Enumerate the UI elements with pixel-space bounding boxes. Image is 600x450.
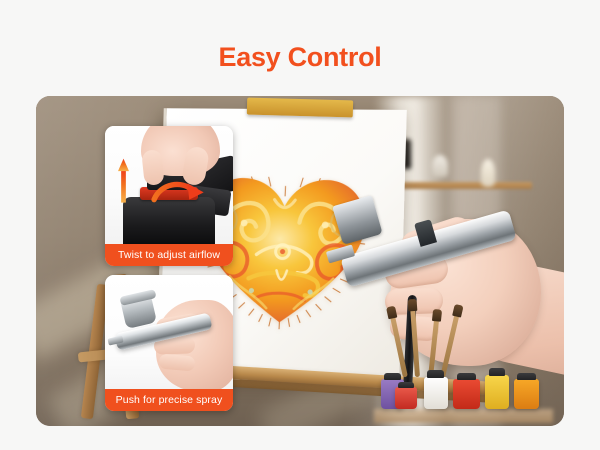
inset-label-twist-airflow: Twist to adjust airflow [105,244,233,266]
paint-bottle [453,379,480,409]
rotate-arrow-icon [149,178,208,209]
paint-bottle [514,379,539,409]
inset-photo-precise-spray [105,275,233,389]
easel-canvas-clip [247,98,353,117]
table-surface [374,409,554,423]
inset-card-precise-spray: Push for precise spray [105,275,233,411]
paintbrush [390,315,408,378]
page-title: Easy Control [0,44,600,71]
paintbrush [428,318,439,378]
paint-bottle [395,387,417,409]
inset-card-twist-airflow: Twist to adjust airflow [105,126,233,266]
paint-bottle [424,377,447,409]
inset-photo-twist-airflow [105,126,233,244]
paint-bottle [485,375,508,409]
inset-label-precise-spray: Push for precise spray [105,389,233,411]
airbrush-paint-cup [332,195,383,245]
paint-supplies [374,324,554,423]
up-arrow-icon [118,157,129,204]
ring-finger [158,353,195,371]
